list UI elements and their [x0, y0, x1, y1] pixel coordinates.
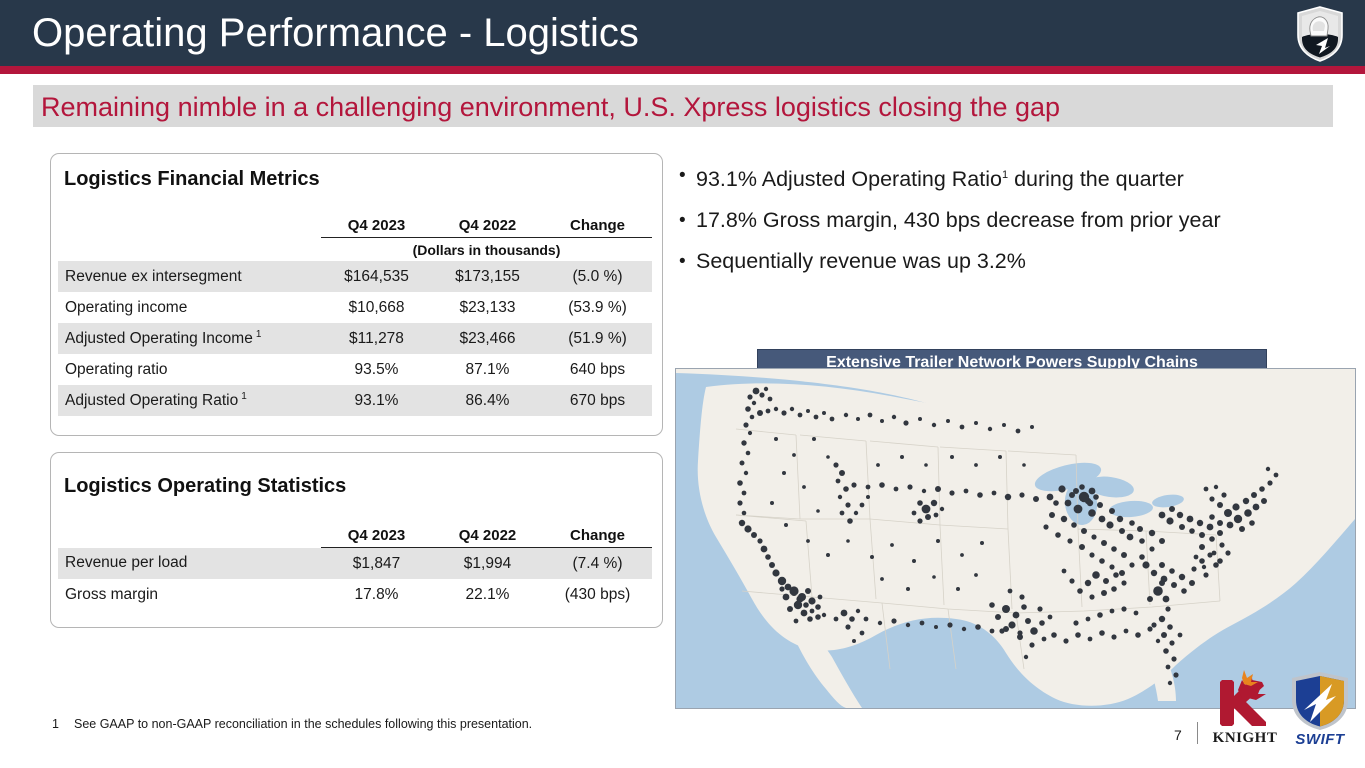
- swift-logo: SWIFT: [1286, 668, 1354, 748]
- bullet-dot-icon: •: [679, 155, 696, 196]
- units-note-row: (Dollars in thousands): [58, 238, 652, 262]
- key-highlights-list: • 93.1% Adjusted Operating Ratio1 during…: [679, 155, 1339, 282]
- row-label-text: Operating ratio: [65, 361, 168, 378]
- list-item-label: 17.8% Gross margin, 430 bps decrease fro…: [696, 200, 1221, 241]
- row-label: Revenue ex intersegment: [58, 261, 321, 292]
- table-row: Adjusted Operating Ratio1 93.1% 86.4% 67…: [58, 385, 652, 416]
- column-header-q4-2023: Q4 2023: [321, 210, 432, 238]
- row-q4-2023: $10,668: [321, 292, 432, 323]
- table-row: Revenue per load $1,847 $1,994 (7.4 %): [58, 548, 652, 580]
- page-title: Operating Performance - Logistics: [32, 8, 639, 58]
- units-spacer: [58, 238, 321, 262]
- row-q4-2023: $1,847: [321, 548, 432, 580]
- row-change: (51.9 %): [543, 323, 652, 354]
- table-row: Revenue ex intersegment $164,535 $173,15…: [58, 261, 652, 292]
- row-label-text: Gross margin: [65, 586, 158, 603]
- trailer-network-map: [675, 368, 1356, 709]
- row-q4-2022: 22.1%: [432, 579, 543, 610]
- column-header-change: Change: [543, 520, 652, 548]
- table-row: Gross margin 17.8% 22.1% (430 bps): [58, 579, 652, 610]
- metrics-card-title: Logistics Financial Metrics: [64, 168, 320, 191]
- list-item: • 93.1% Adjusted Operating Ratio1 during…: [679, 155, 1339, 200]
- footnote-marker: 1: [238, 391, 247, 402]
- table-row: Operating ratio 93.5% 87.1% 640 bps: [58, 354, 652, 385]
- list-item-text-tail: during the quarter: [1008, 167, 1184, 191]
- list-item: • Sequentially revenue was up 3.2%: [679, 241, 1339, 282]
- list-item-text: 17.8% Gross margin, 430 bps decrease fro…: [696, 208, 1221, 232]
- table-row: Operating income $10,668 $23,133 (53.9 %…: [58, 292, 652, 323]
- units-note: (Dollars in thousands): [321, 238, 652, 262]
- logistics-financial-metrics-table: Q4 2023 Q4 2022 Change (Dollars in thous…: [58, 210, 652, 416]
- row-change: (7.4 %): [543, 548, 652, 580]
- row-label-text: Revenue per load: [65, 554, 187, 571]
- table-header-row: Q4 2023 Q4 2022 Change: [58, 210, 652, 238]
- table-header-row: Q4 2023 Q4 2022 Change: [58, 520, 652, 548]
- bullet-dot-icon: •: [679, 200, 696, 241]
- row-q4-2022: 87.1%: [432, 354, 543, 385]
- row-q4-2023: 17.8%: [321, 579, 432, 610]
- row-change: (53.9 %): [543, 292, 652, 323]
- row-label: Operating ratio: [58, 354, 321, 385]
- bullet-dot-icon: •: [679, 241, 696, 282]
- swift-wordmark-text: SWIFT: [1295, 731, 1345, 748]
- list-item-text: 93.1% Adjusted Operating Ratio: [696, 167, 1002, 191]
- row-change: (430 bps): [543, 579, 652, 610]
- row-q4-2022: $23,466: [432, 323, 543, 354]
- row-change: 670 bps: [543, 385, 652, 416]
- list-item-label: Sequentially revenue was up 3.2%: [696, 241, 1026, 282]
- column-header-q4-2022: Q4 2022: [432, 210, 543, 238]
- column-header-label: [58, 210, 321, 238]
- footnote-marker: 1: [253, 329, 262, 340]
- row-label: Operating income: [58, 292, 321, 323]
- map-graphic: [676, 369, 1355, 708]
- knight-swift-shield-icon: [1294, 5, 1346, 63]
- row-label: Revenue per load: [58, 548, 321, 580]
- list-item-label: 93.1% Adjusted Operating Ratio1 during t…: [696, 155, 1184, 200]
- knight-wordmark-text: KNIGHT: [1213, 730, 1278, 746]
- row-q4-2022: 86.4%: [432, 385, 543, 416]
- row-change: 640 bps: [543, 354, 652, 385]
- row-q4-2023: 93.1%: [321, 385, 432, 416]
- stats-card-title: Logistics Operating Statistics: [64, 475, 346, 498]
- row-label-text: Adjusted Operating Income: [65, 330, 253, 347]
- logistics-operating-statistics-table: Q4 2023 Q4 2022 Change Revenue per load …: [58, 520, 652, 610]
- footnote-text: See GAAP to non-GAAP reconciliation in t…: [74, 717, 532, 731]
- footer-divider: [1197, 722, 1198, 744]
- row-label-text: Operating income: [65, 299, 187, 316]
- row-label: Adjusted Operating Ratio1: [58, 385, 321, 416]
- column-header-q4-2023: Q4 2023: [321, 520, 432, 548]
- row-q4-2022: $1,994: [432, 548, 543, 580]
- list-item: • 17.8% Gross margin, 430 bps decrease f…: [679, 200, 1339, 241]
- page-number: 7: [1174, 727, 1182, 743]
- header-accent-stripe: [0, 66, 1365, 74]
- column-header-change: Change: [543, 210, 652, 238]
- column-header-label: [58, 520, 321, 548]
- knight-logo: KNIGHT: [1208, 668, 1282, 748]
- row-label-text: Revenue ex intersegment: [65, 268, 242, 285]
- row-q4-2022: $23,133: [432, 292, 543, 323]
- table-row: Adjusted Operating Income1 $11,278 $23,4…: [58, 323, 652, 354]
- row-change: (5.0 %): [543, 261, 652, 292]
- column-header-q4-2022: Q4 2022: [432, 520, 543, 548]
- row-label: Adjusted Operating Income1: [58, 323, 321, 354]
- footnote: 1See GAAP to non-GAAP reconciliation in …: [52, 717, 532, 731]
- row-q4-2023: 93.5%: [321, 354, 432, 385]
- row-label-text: Adjusted Operating Ratio: [65, 392, 238, 409]
- row-label: Gross margin: [58, 579, 321, 610]
- footnote-number: 1: [52, 717, 74, 731]
- row-q4-2023: $11,278: [321, 323, 432, 354]
- subtitle-text: Remaining nimble in a challenging enviro…: [41, 88, 1060, 126]
- list-item-text: Sequentially revenue was up 3.2%: [696, 249, 1026, 273]
- row-q4-2022: $173,155: [432, 261, 543, 292]
- row-q4-2023: $164,535: [321, 261, 432, 292]
